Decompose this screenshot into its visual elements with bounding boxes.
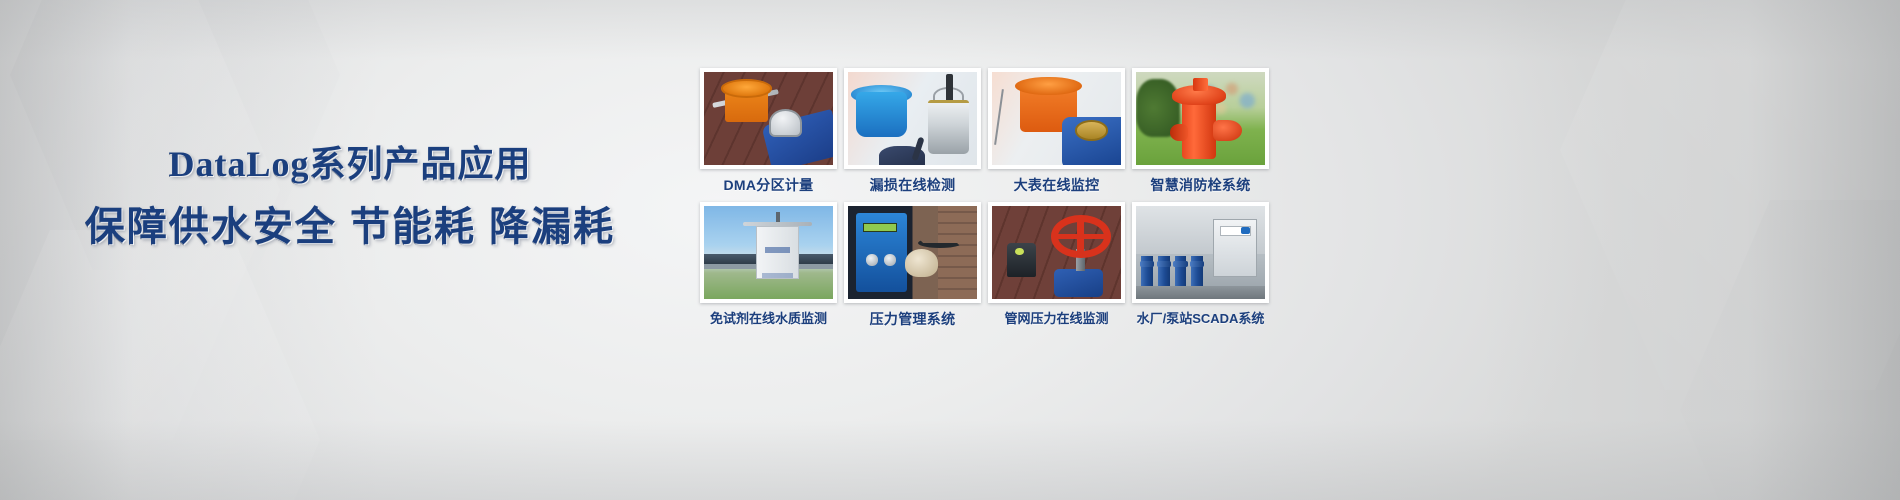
hexagon-shape	[1560, 0, 1900, 390]
product-card-large-meter[interactable]: 大表在线监控	[988, 68, 1125, 194]
product-thumbnail[interactable]	[1132, 68, 1269, 169]
product-thumbnail[interactable]	[844, 68, 981, 169]
product-thumbnail[interactable]	[1132, 202, 1269, 303]
product-card-dma[interactable]: DMA分区计量	[700, 68, 837, 194]
product-card-smart-hydrant[interactable]: 智慧消防栓系统	[1132, 68, 1269, 194]
product-thumbnail[interactable]	[844, 202, 981, 303]
product-application-banner: DataLog系列产品应用 保障供水安全 节能耗 降漏耗 DMA分区计量 漏	[0, 0, 1900, 500]
scada-system-photo	[1136, 206, 1265, 299]
water-quality-photo	[704, 206, 833, 299]
large-meter-photo	[992, 72, 1121, 165]
product-card-water-quality[interactable]: 免试剂在线水质监测	[700, 202, 837, 328]
dma-metering-photo	[704, 72, 833, 165]
hexagon-shape	[1680, 200, 1900, 500]
product-caption: DMA分区计量	[700, 176, 837, 194]
product-caption: 水厂/泵站SCADA系统	[1132, 310, 1269, 328]
product-card-scada[interactable]: 水厂/泵站SCADA系统	[1132, 202, 1269, 328]
pressure-management-photo	[848, 206, 977, 299]
product-card-leak-detection[interactable]: 漏损在线检测	[844, 68, 981, 194]
product-caption: 压力管理系统	[844, 310, 981, 328]
product-caption: 管网压力在线监测	[988, 310, 1125, 328]
fire-hydrant-photo	[1136, 72, 1265, 165]
product-card-pressure-management[interactable]: 压力管理系统	[844, 202, 981, 328]
product-thumbnail[interactable]	[700, 202, 837, 303]
product-caption: 免试剂在线水质监测	[700, 310, 837, 328]
network-pressure-photo	[992, 206, 1121, 299]
product-thumbnail[interactable]	[700, 68, 837, 169]
product-caption: 漏损在线检测	[844, 176, 981, 194]
product-caption: 智慧消防栓系统	[1132, 176, 1269, 194]
headline-line-1: DataLog系列产品应用	[0, 140, 700, 188]
banner-headline: DataLog系列产品应用 保障供水安全 节能耗 降漏耗	[0, 140, 700, 256]
hexagon-shape	[0, 230, 320, 500]
product-card-network-pressure[interactable]: 管网压力在线监测	[988, 202, 1125, 328]
headline-line-2: 保障供水安全 节能耗 降漏耗	[0, 198, 700, 256]
product-caption: 大表在线监控	[988, 176, 1125, 194]
product-thumbnail[interactable]	[988, 68, 1125, 169]
leak-detection-photo	[848, 72, 977, 165]
product-grid: DMA分区计量 漏损在线检测 大表在线监控	[700, 68, 1300, 328]
product-thumbnail[interactable]	[988, 202, 1125, 303]
